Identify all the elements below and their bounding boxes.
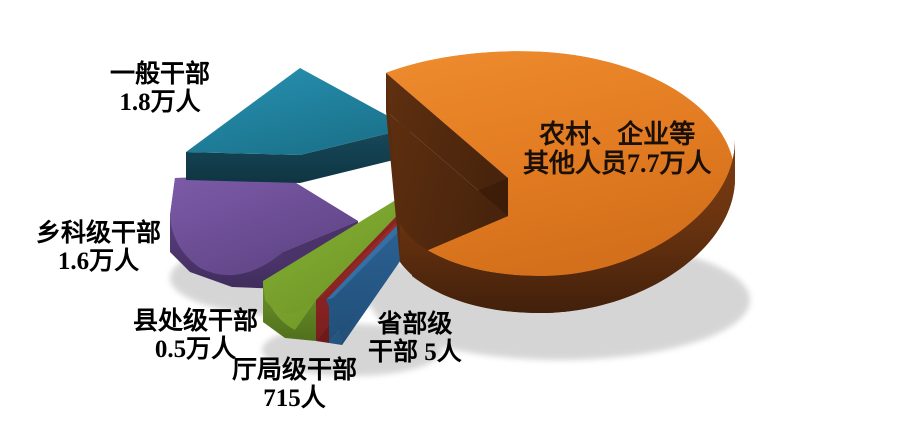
label-provincial-cadres: 省部级 干部 5人 (368, 311, 462, 367)
label-bureau-cadres: 厅局级干部 715人 (232, 357, 357, 413)
label-township-cadres-value: 1.6万人 (36, 248, 161, 276)
label-general-cadres-title: 一般干部 (110, 61, 210, 89)
slice-general-cadres[interactable] (186, 68, 410, 183)
label-bureau-cadres-value: 715人 (232, 385, 357, 413)
pie-chart-figure: 一般干部 1.8万人 乡科级干部 1.6万人 县处级干部 0.5万人 厅局级干部… (0, 0, 901, 422)
label-bureau-cadres-title: 厅局级干部 (232, 357, 357, 385)
label-county-cadres: 县处级干部 0.5万人 (133, 308, 258, 364)
label-other-personnel-title: 农村、企业等 (523, 120, 712, 149)
label-other-personnel-value: 其他人员7.7万人 (523, 149, 712, 178)
label-township-cadres: 乡科级干部 1.6万人 (36, 220, 161, 276)
label-general-cadres-value: 1.8万人 (110, 89, 210, 117)
label-county-cadres-title: 县处级干部 (133, 308, 258, 336)
label-provincial-cadres-value: 干部 5人 (368, 339, 462, 367)
label-township-cadres-title: 乡科级干部 (36, 220, 161, 248)
label-other-personnel: 农村、企业等 其他人员7.7万人 (523, 120, 712, 178)
label-provincial-cadres-title: 省部级 (368, 311, 462, 339)
label-general-cadres: 一般干部 1.8万人 (110, 61, 210, 117)
